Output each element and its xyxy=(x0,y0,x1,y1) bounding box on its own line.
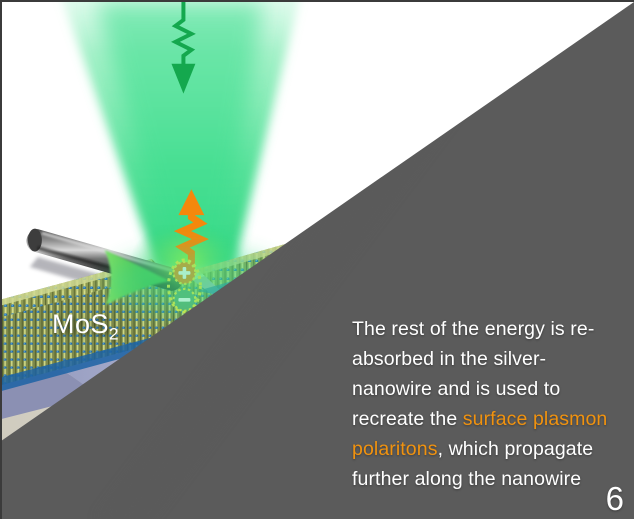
mos2-label-subscript: 2 xyxy=(109,324,119,343)
slide-number: 6 xyxy=(606,482,624,515)
sample-plane-haze xyxy=(108,249,287,317)
slide-canvas: MoS2 The rest of the energy is re-absorb… xyxy=(0,0,634,519)
mos2-label-text: MoS xyxy=(52,309,109,339)
slide-caption: The rest of the energy is re-absorbed in… xyxy=(352,314,624,494)
mos2-label: MoS2 xyxy=(52,309,119,344)
